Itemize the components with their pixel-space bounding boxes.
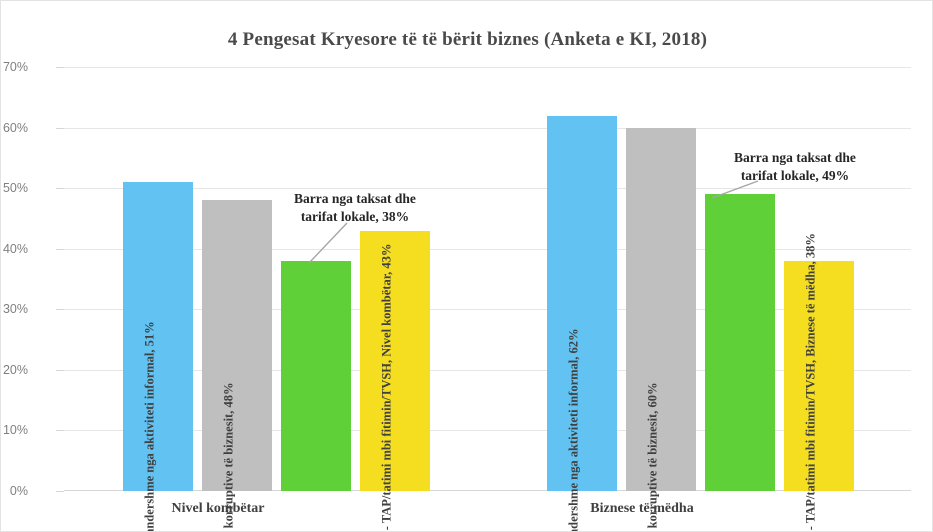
annotation-green-national-line1: Barra nga taksat dhe	[294, 191, 416, 206]
bar-label-yellow-national: Barra fiskale - TAP/tatimi mbi fitimin/T…	[379, 359, 395, 532]
category-label-national: Nivel kombëtar	[123, 501, 313, 517]
bar-green-national[interactable]	[281, 261, 351, 491]
plot-area: 70% 60% 50% 40% 30% 20% 10% 0% Konkurren…	[64, 67, 911, 491]
bar-blue-large[interactable]: Konkurrenca e pandershme nga aktiviteti …	[547, 116, 617, 492]
ytick-mark-20	[56, 370, 64, 371]
bar-yellow-national[interactable]: Barra fiskale - TAP/tatimi mbi fitimin/T…	[360, 231, 430, 491]
bar-blue-national[interactable]: Konkurrenca e pandershme nga aktiviteti …	[123, 182, 193, 491]
ytick-mark-60	[56, 128, 64, 129]
bar-label-gray-large: Praktika korruptive të biznesit, 60%	[645, 309, 661, 532]
annotation-green-large-line2: tarifat lokale, 49%	[741, 168, 849, 183]
ytick-mark-70	[56, 67, 64, 68]
gridline-60	[64, 128, 911, 129]
ytick-label-0: 0%	[0, 484, 28, 498]
ytick-mark-10	[56, 430, 64, 431]
ytick-label-70: 70%	[0, 60, 28, 74]
bar-label-blue-large: Konkurrenca e pandershme nga aktiviteti …	[566, 303, 582, 532]
bar-gray-large[interactable]: Praktika korruptive të biznesit, 60%	[626, 128, 696, 491]
ytick-label-30: 30%	[0, 302, 28, 316]
bar-green-large[interactable]	[705, 194, 775, 491]
ytick-label-50: 50%	[0, 181, 28, 195]
ytick-mark-40	[56, 249, 64, 250]
gridline-70	[64, 67, 911, 68]
chart-container: 4 Pengesat Kryesore të të bërit biznes (…	[0, 0, 933, 532]
annotation-green-large: Barra nga taksat dhe tarifat lokale, 49%	[705, 149, 885, 184]
ytick-mark-30	[56, 309, 64, 310]
ytick-mark-50	[56, 188, 64, 189]
ytick-label-20: 20%	[0, 363, 28, 377]
bar-label-yellow-large: Barra fiskale - TAP/tatimi mbi fitimin/T…	[803, 359, 819, 532]
chart-title: 4 Pengesat Kryesore të të bërit biznes (…	[1, 29, 933, 51]
annotation-green-national: Barra nga taksat dhe tarifat lokale, 38%	[265, 190, 445, 225]
annotation-green-national-line2: tarifat lokale, 38%	[301, 209, 409, 224]
ytick-mark-0	[56, 491, 64, 492]
bar-gray-national[interactable]: Praktika korruptive të biznesit, 48%	[202, 200, 272, 491]
ytick-label-10: 10%	[0, 423, 28, 437]
category-label-large: Biznese të mëdha	[547, 501, 737, 517]
ytick-label-40: 40%	[0, 242, 28, 256]
ytick-label-60: 60%	[0, 121, 28, 135]
annotation-green-large-line1: Barra nga taksat dhe	[734, 150, 856, 165]
bar-yellow-large[interactable]: Barra fiskale - TAP/tatimi mbi fitimin/T…	[784, 261, 854, 491]
